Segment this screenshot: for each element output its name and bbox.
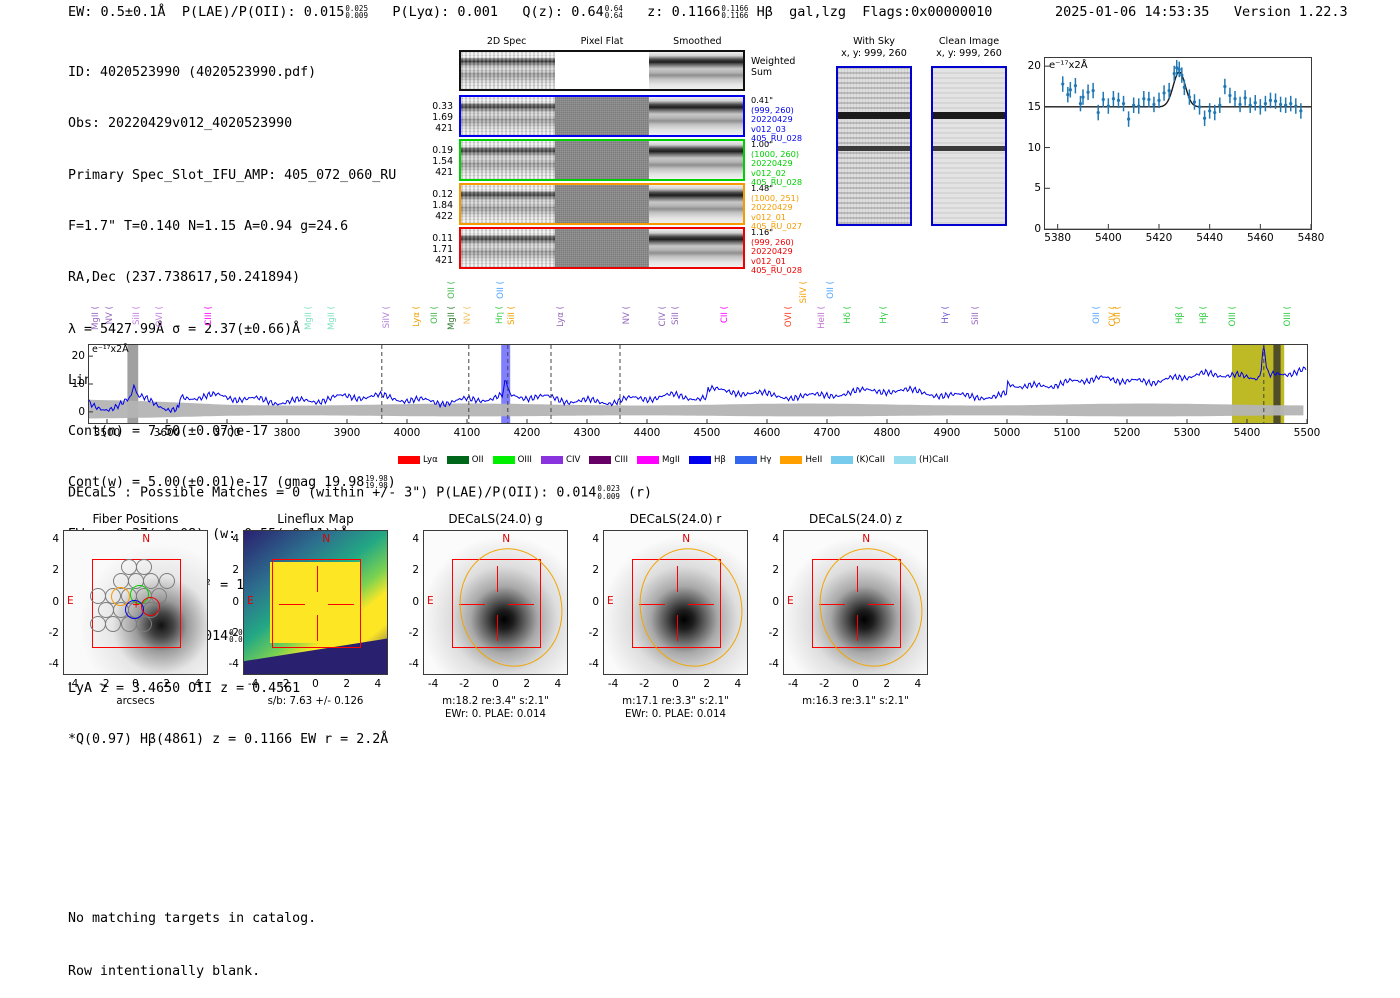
fitplot-datapoint [1294,104,1297,107]
header-plya: P(Lyα): 0.001 [392,4,498,20]
fiber-2-info: 1.48"(1000, 251)20220429v012_01405_RU_02… [751,184,813,232]
fitplot-datapoint [1173,72,1176,75]
line-label-9: OII ( [430,306,440,324]
decals-xtick-0-3: 2 [158,678,176,690]
fitplot-datapoint [1180,74,1183,77]
decals-xtick-0-1: -2 [95,678,113,690]
fiber-center-marker: + [133,597,140,611]
legend-label-(K)CaII: (K)CaII [856,455,885,465]
weighted-sum-label: WeightedSum [751,56,795,79]
fitplot-datapoint [1193,100,1196,103]
specplot-xtick-4300: 4300 [574,427,601,439]
specplot-xtick-4000: 4000 [394,427,421,439]
decals-ytick-1-4: 4 [219,533,239,545]
decals-ytick-4-3: 2 [759,564,779,576]
decals-panel-caption-2: m:18.2 re:3.4" s:2.1"EWr: 0. PLAE: 0.014 [397,695,594,721]
specplot-xtick-4100: 4100 [454,427,481,439]
decals-ytick-2-0: -4 [399,658,419,670]
header-plae-value: 0.015 [304,4,345,20]
compass-n-4: N [862,533,870,545]
fitplot-datapoint [1274,100,1277,103]
info-primary-spec: Primary Spec_Slot_IFU_AMP: 405_072_060_R… [68,167,396,184]
header-plae-label: P(LAE)/P(OII): [182,4,296,20]
compass-e-2: E [427,595,434,607]
decals-ytick-0-3: 2 [39,564,59,576]
specplot-xtick-4800: 4800 [874,427,901,439]
legend-label-MgII: MgII [662,455,680,465]
fitplot-datapoint [1183,86,1186,89]
specplot-ytick-0: 0 [78,406,85,418]
fiber-1-pixelflat [555,141,649,179]
line-label-17: NV ( [622,306,632,324]
line-label-4: CIII ( [204,306,214,326]
fiber-1-smoothed [649,141,743,179]
specplot-ytick-20: 20 [72,350,85,362]
fitplot-datapoint [1223,85,1226,88]
line-label-15: OII ( [496,281,506,299]
decals-xtick-1-3: 2 [338,678,356,690]
spec2d-column-header-0: 2D Spec [462,36,552,47]
fiber-strip-0 [459,95,745,137]
fiber-2-metrics: 0.121.84422 [419,189,453,223]
fitplot-datapoint [1097,111,1100,114]
specplot-xtick-5500: 5500 [1294,427,1321,439]
fitplot-datapoint [1081,95,1084,98]
legend-swatch-OII [447,456,469,464]
decals-caption-line1-2: m:18.2 re:3.4" s:2.1" [397,695,594,708]
fitplot-datapoint [1086,91,1089,94]
line-label-27: Hγ ( [941,306,951,324]
header-qz-value: 0.64 [571,4,604,20]
fitplot-datapoint [1249,104,1252,107]
crosshair-bottom-1 [317,615,318,641]
line-label-32: Hβ ( [1175,306,1185,324]
line-label-29: OII ( [1092,306,1102,324]
specplot-xtick-4400: 4400 [634,427,661,439]
legend-label-OIII: OIII [518,455,532,465]
decals-panel-title-1: Lineflux Map [225,512,406,526]
fitplot-datapoint [1066,93,1069,96]
specplot-ytick-10: 10 [72,378,85,390]
decals-ytick-3-1: -2 [579,627,599,639]
fitplot-datapoint [1127,117,1130,120]
compass-e-3: E [607,595,614,607]
decals-xtick-4-1: -2 [815,678,833,690]
fiber-circle-5 [159,573,175,589]
legend-swatch-CIV [541,456,563,464]
compass-n-2: N [502,533,510,545]
decals-xtick-2-4: 4 [549,678,567,690]
crosshair-top-1 [317,566,318,592]
line-label-21: OVI ( [784,306,794,327]
decals-xtick-4-2: 0 [847,678,865,690]
fitplot-xtick-5400: 5400 [1095,232,1122,244]
spec2d-column-header-1: Pixel Flat [557,36,647,47]
sky-panel-coords-1: x, y: 999, 260 [909,48,1029,60]
weighted-sum-pixelflat [555,52,649,89]
info-id: ID: 4020523990 (4020523990.pdf) [68,64,396,81]
decals-xtick-4-0: -4 [784,678,802,690]
legend-label-CIII: CIII [614,455,628,465]
fitplot-canvas [1045,58,1311,229]
line-label-22: HeII ( [817,306,827,329]
line-label-14: SiII ( [507,306,517,325]
line-label-18: CIV ( [658,306,668,327]
legend-swatch-MgII [637,456,659,464]
decals-ytick-0-1: -2 [39,627,59,639]
spectrum-error-band [89,400,1303,419]
legend-item-2: OIII [493,455,532,465]
decals-panel-0: +NE [63,530,208,675]
legend-swatch-Lyα [398,456,420,464]
info-obs: Obs: 20220429v012_4020523990 [68,115,396,132]
specplot-flux-annotation: e⁻¹⁷x2Å [92,344,129,355]
decals-xtick-2-0: -4 [424,678,442,690]
fitplot-xtick-5440: 5440 [1196,232,1223,244]
decals-xtick-3-1: -2 [635,678,653,690]
fiber-0-info: 0.41"(999, 260)20220429v012_03405_RU_028 [751,96,813,144]
decals-panel-title-0: Fiber Positions [45,512,226,526]
decals-ytick-2-3: 2 [399,564,419,576]
decals-ytick-0-4: 4 [39,533,59,545]
line-label-0: MgII ( [91,306,101,330]
decals-ytick-2-4: 4 [399,533,419,545]
full-spectrum-plot: e⁻¹⁷x2Å 35003600370038003900400041004200… [88,344,1308,424]
fitplot-datapoint [1198,105,1201,108]
sky-panel-title-1: Clean Image [909,36,1029,48]
fiber-circle-15 [105,616,121,632]
legend-swatch-HeII [780,456,802,464]
line-label-35: OIII ( [1283,306,1293,326]
weighted-sum-strip [459,50,745,91]
decals-ytick-0-0: -4 [39,658,59,670]
decals-ytick-1-0: -4 [219,658,239,670]
fitplot-datapoint [1238,103,1241,106]
fitplot-datapoint [1254,101,1257,104]
footer-line-2: Row intentionally blank. [68,963,316,981]
decals-caption-line1-0: arcsecs [37,695,234,708]
header-summary-line: EW: 0.5±0.1Å P(LAE)/P(OII): 0.0150.0250.… [68,4,992,20]
compass-e-1: E [247,595,254,607]
decals-ytick-3-0: -4 [579,658,599,670]
header-timestamp: 2025-01-06 14:53:35 [1055,4,1209,20]
compass-e-0: E [67,595,74,607]
sky-trace-band-a-1 [933,112,1005,119]
fitplot-datapoint [1228,94,1231,97]
decals-xtick-1-2: 0 [307,678,325,690]
decals-ytick-4-0: -4 [759,658,779,670]
decals-ytick-4-1: -2 [759,627,779,639]
legend-item-1: OII [447,455,484,465]
decals-panel-3: NE [603,530,748,675]
fiber-circle-18 [90,616,106,632]
specplot-xtick-5200: 5200 [1114,427,1141,439]
fitplot-datapoint [1152,103,1155,106]
spec2d-column-header-2: Smoothed [652,36,742,47]
header-version: Version 1.22.3 [1234,4,1348,20]
line-label-19: SiII ( [671,306,681,325]
decals-ytick-1-1: -2 [219,627,239,639]
decals-xtick-2-1: -2 [455,678,473,690]
info-lambda: λ = 5427.99Å σ = 2.37(±0.66)Å [68,321,396,338]
emission-line-legend: LyαOIIOIIICIVCIIIMgIIHβHγHeII(K)CaII(H)C… [398,455,949,465]
legend-label-OII: OII [472,455,484,465]
fitplot-datapoint [1188,95,1191,98]
decals-caption-line2-3: EWr: 0. PLAE: 0.014 [577,708,774,721]
decals-panel-title-2: DECaLS(24.0) g [405,512,586,526]
fitplot-datapoint [1117,99,1120,102]
legend-swatch-(H)CaII [894,456,916,464]
decals-panel-4: NE [783,530,928,675]
specplot-xtick-3700: 3700 [214,427,241,439]
specplot-xtick-3500: 3500 [94,427,121,439]
fitplot-ytick-15: 15 [1028,101,1041,113]
fiber-3-info: 1.16"(999, 260)20220429v012_01405_RU_028 [751,228,813,276]
line-label-12: OII ( [447,281,457,299]
fitplot-datapoint [1069,88,1072,91]
decals-xtick-1-0: -4 [244,678,262,690]
decals-panel-caption-4: m:16.3 re:3.1" s:2.1" [757,695,954,708]
header-line-id: Hβ [757,4,773,20]
decals-ytick-2-2: 0 [399,596,419,608]
specplot-xtick-4700: 4700 [814,427,841,439]
sky-trace-band-b-0 [838,146,910,151]
fitplot-datapoint [1142,97,1145,100]
decals-ytick-3-4: 4 [579,533,599,545]
line-label-34: OIII ( [1228,306,1238,326]
specplot-xtick-3800: 3800 [274,427,301,439]
fitplot-datapoint [1233,97,1236,100]
fitplot-datapoint [1162,91,1165,94]
specplot-xtick-4500: 4500 [694,427,721,439]
header-flags: Flags:0x00000010 [862,4,992,20]
header-qz-range: 0.640.64 [605,5,623,20]
fitplot-datapoint [1112,97,1115,100]
emission-line-fit-plot: e⁻¹⁷x2Å 05101520538054005420544054605480 [1044,57,1312,230]
decals-panel-caption-1: s/b: 7.63 +/- 0.126 [217,695,414,708]
fitplot-ytick-0: 0 [1034,223,1041,235]
fitplot-datapoint [1079,102,1082,105]
decals-xtick-3-0: -4 [604,678,622,690]
fitplot-datapoint [1259,105,1262,108]
fitplot-datapoint [1157,99,1160,102]
fitplot-xtick-5380: 5380 [1044,232,1071,244]
decals-ytick-0-2: 0 [39,596,59,608]
decals-caption-line1-1: s/b: 7.63 +/- 0.126 [217,695,414,708]
decals-caption-line1-3: m:17.1 re:3.3" s:2.1" [577,695,774,708]
decals-xtick-0-4: 4 [189,678,207,690]
line-label-3: OVI ( [155,306,165,327]
line-label-26: Hγ ( [879,306,889,324]
fiber-strip-2 [459,183,745,225]
decals-title: DECaLS : Possible Matches = 0 (within +/… [68,485,652,501]
legend-swatch-Hγ [735,456,757,464]
decals-ytick-1-3: 2 [219,564,239,576]
fiber-1-metrics: 0.191.54421 [419,145,453,179]
fitplot-datapoint [1289,102,1292,105]
fiber-2-smoothed [649,185,743,223]
fiber-0-pixelflat [555,97,649,135]
legend-swatch-OIII [493,456,515,464]
decals-ytick-2-1: -2 [399,627,419,639]
legend-item-6: Hβ [689,455,726,465]
line-label-6: MgII ( [327,306,337,330]
sky-panel-header-1: Clean Imagex, y: 999, 260 [909,36,1029,60]
specplot-xtick-5000: 5000 [994,427,1021,439]
legend-label-Hγ: Hγ [760,455,772,465]
fiber-3-pixelflat [555,229,649,267]
decals-xtick-3-2: 0 [667,678,685,690]
fiber-circle-6 [90,588,106,604]
fitplot-datapoint [1122,102,1125,105]
fitplot-datapoint [1279,103,1282,106]
fiber-2-2dspec [461,185,555,223]
decals-xtick-1-1: -2 [275,678,293,690]
decals-panel-title-4: DECaLS(24.0) z [765,512,946,526]
fitplot-datapoint [1092,89,1095,92]
specplot-canvas [89,345,1307,423]
fitplot-datapoint [1218,104,1221,107]
fitplot-datapoint [1299,109,1302,112]
line-label-20: CII ( [720,306,730,323]
legend-item-5: MgII [637,455,680,465]
header-z-value: 0.1166 [672,4,721,20]
decals-xtick-2-2: 0 [487,678,505,690]
header-meta: 2025-01-06 14:53:35 Version 1.22.3 [1055,4,1348,20]
crosshair-left-1 [279,604,305,605]
fitplot-datapoint [1203,117,1206,120]
decals-xtick-1-4: 4 [369,678,387,690]
fiber-strip-3 [459,227,745,269]
fiber-1-info: 1.00"(1000, 260)20220429v012_02405_RU_02… [751,140,813,188]
fiber-3-2dspec [461,229,555,267]
fiber-0-metrics: 0.331.69421 [419,101,453,135]
footer-note: No matching targets in catalog. Row inte… [68,875,316,998]
crosshair-right-1 [328,604,354,605]
legend-label-HeII: HeII [805,455,822,465]
specplot-xtick-3600: 3600 [154,427,181,439]
legend-item-8: HeII [780,455,822,465]
decals-xtick-3-3: 2 [698,678,716,690]
specplot-xtick-4200: 4200 [514,427,541,439]
line-label-5: MgII ( [304,306,314,330]
compass-e-4: E [787,595,794,607]
fiber-strip-1 [459,139,745,181]
decals-caption-line1-4: m:16.3 re:3.1" s:2.1" [757,695,954,708]
decals-ytick-4-4: 4 [759,533,779,545]
fitplot-datapoint [1132,104,1135,107]
legend-item-3: CIV [541,455,580,465]
sky-trace-band-b-1 [933,146,1005,151]
info-seeing: F=1.7" T=0.140 N=1.15 A=0.94 g=24.6 [68,218,396,235]
decals-xtick-2-3: 2 [518,678,536,690]
fitplot-datapoint [1168,89,1171,92]
legend-item-9: (K)CaII [831,455,885,465]
footer-line-1: No matching targets in catalog. [68,910,316,928]
fitplot-datapoint [1178,68,1181,71]
header-ew: EW: 0.5±0.1Å [68,4,166,20]
compass-n-1: N [322,533,330,545]
specplot-xtick-5100: 5100 [1054,427,1081,439]
fiber-1-2dspec [461,141,555,179]
fitplot-xtick-5420: 5420 [1146,232,1173,244]
line-label-28: SiII ( [971,306,981,325]
fitplot-datapoint [1147,98,1150,101]
legend-label-Lyα: Lyα [423,455,438,465]
decals-xtick-0-2: 0 [127,678,145,690]
decals-xtick-0-0: -4 [64,678,82,690]
weighted-sum-smoothed [649,52,743,89]
line-label-8: Lyα ( [412,306,422,327]
specplot-xtick-4600: 4600 [754,427,781,439]
fitplot-datapoint [1244,96,1247,99]
spectrum-flux-trace [89,345,1306,412]
line-label-1: NV ( [105,306,115,324]
decals-ytick-1-2: 0 [219,596,239,608]
with-sky-image [836,66,912,226]
fitplot-datapoint [1284,104,1287,107]
specplot-xtick-3900: 3900 [334,427,361,439]
header-plae-range: 0.0250.009 [345,5,368,20]
fiber-0-2dspec [461,97,555,135]
header-z-range: 0.11660.1166 [721,5,748,20]
fitplot-datapoint [1107,104,1110,107]
legend-item-4: CIII [589,455,628,465]
weighted-sum-2dspec [461,52,555,89]
legend-swatch-(K)CaII [831,456,853,464]
fitplot-xtick-5460: 5460 [1247,232,1274,244]
decals-panel-2: NE [423,530,568,675]
fitplot-datapoint [1208,109,1211,112]
fitplot-datapoint [1213,111,1216,114]
fitplot-xtick-5480: 5480 [1298,232,1325,244]
legend-swatch-Hβ [689,456,711,464]
decals-panel-caption-3: m:17.1 re:3.3" s:2.1"EWr: 0. PLAE: 0.014 [577,695,774,721]
line-label-31: OII ( [1113,306,1123,324]
fitplot-ytick-20: 20 [1028,60,1041,72]
decals-xtick-4-4: 4 [909,678,927,690]
fitplot-datapoint [1269,99,1272,102]
header-z-label: z: [647,4,663,20]
decals-panel-1: NE [243,530,388,675]
fitplot-ytick-5: 5 [1034,182,1041,194]
clean-image [931,66,1007,226]
fiber-3-metrics: 0.111.71421 [419,233,453,267]
fitplot-datapoint [1102,98,1105,101]
fitplot-datapoint [1137,104,1140,107]
line-label-33: Hβ ( [1199,306,1209,324]
fiber-highlight-3 [141,597,160,616]
decals-xtick-3-4: 4 [729,678,747,690]
line-label-10: MgII ( [447,306,457,330]
legend-swatch-CIII [589,456,611,464]
fiber-0-smoothed [649,97,743,135]
line-label-24: OII ( [826,281,836,299]
line-label-16: Lyα ( [556,306,566,327]
decals-ytick-4-2: 0 [759,596,779,608]
legend-item-7: Hγ [735,455,772,465]
specplot-xtick-5300: 5300 [1174,427,1201,439]
info-solution: *Q(0.97) Hβ(4861) z = 0.1166 EW r = 2.2Å [68,731,396,748]
legend-label-CIV: CIV [566,455,580,465]
specplot-xtick-4900: 4900 [934,427,961,439]
line-label-2: SiII ( [132,306,142,325]
header-qz-label: Q(z): [522,4,563,20]
fiber-3-smoothed [649,229,743,267]
decals-panel-title-3: DECaLS(24.0) r [585,512,766,526]
decals-ytick-3-3: 2 [579,564,599,576]
line-label-7: SiIV ( [382,306,392,328]
